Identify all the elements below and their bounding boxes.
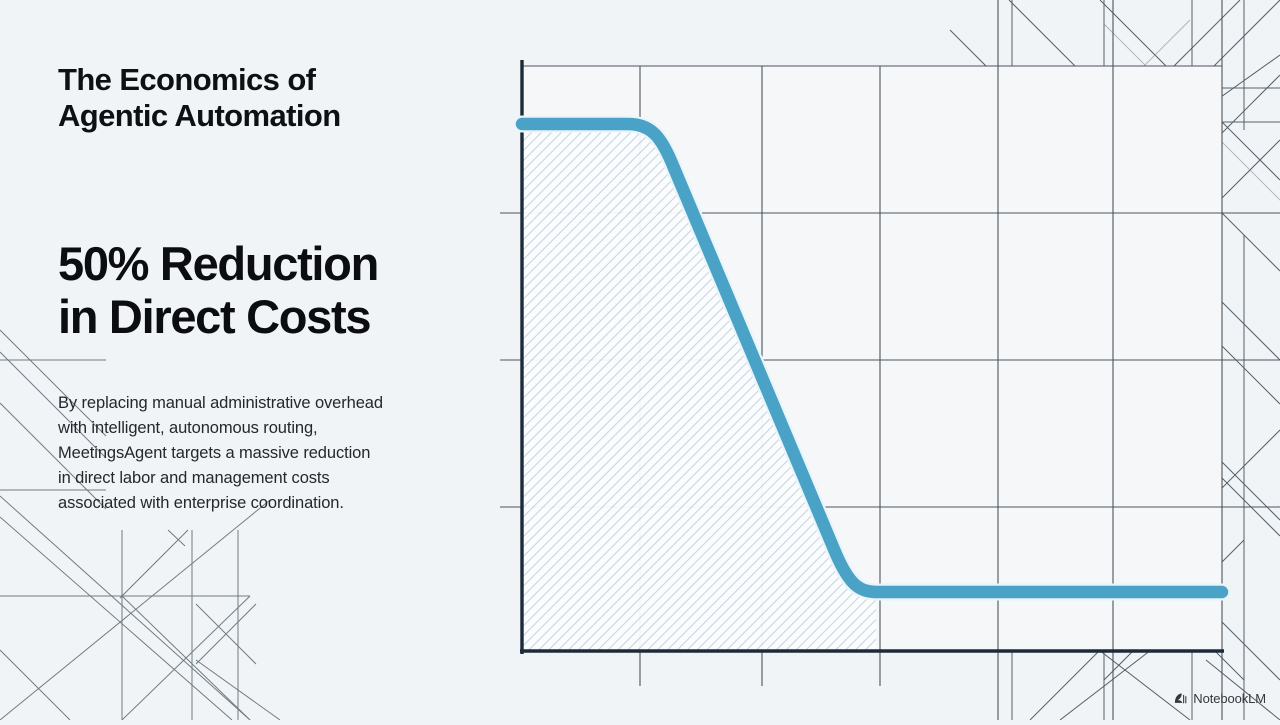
- slide-headline: 50% Reduction in Direct Costs: [58, 238, 498, 343]
- slide-canvas: The Economics of Agentic Automation 50% …: [0, 0, 1280, 720]
- notebooklm-spiral-icon: [1173, 691, 1188, 706]
- text-column: The Economics of Agentic Automation: [58, 62, 488, 135]
- slide-body-text: By replacing manual administrative overh…: [58, 391, 488, 516]
- slide-eyebrow: The Economics of Agentic Automation: [58, 62, 488, 135]
- watermark-label: NotebookLM: [1193, 691, 1266, 706]
- notebooklm-watermark: NotebookLM: [1173, 691, 1266, 706]
